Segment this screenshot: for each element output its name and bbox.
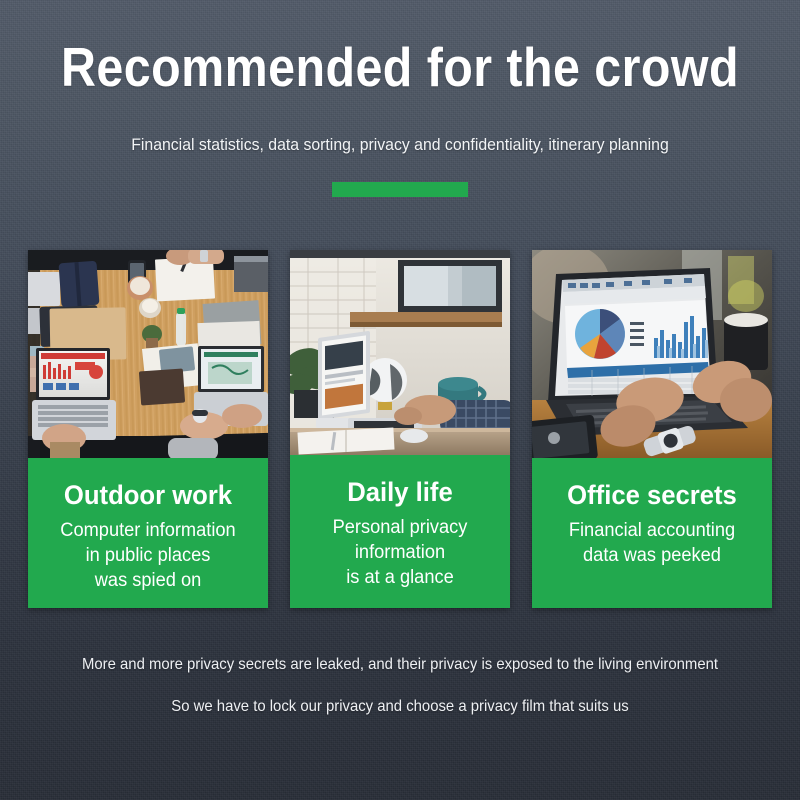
card-caption-daily-life: Daily life Personal privacy information … — [290, 455, 510, 608]
card-body-line-2: information — [294, 540, 505, 565]
card-body-line-2: in public places — [33, 543, 263, 568]
home-desk-illustration — [290, 250, 510, 455]
footer-line-1: More and more privacy secrets are leaked… — [28, 655, 772, 675]
card-body-line-2: data was peeked — [537, 543, 767, 568]
footer-line-2: So we have to lock our privacy and choos… — [28, 697, 772, 717]
card-caption-office-secrets: Office secrets Financial accounting data… — [532, 458, 772, 608]
card-body-line-3: is at a glance — [294, 565, 505, 590]
privacy-film-promo-poster: Recommended for the crowd Financial stat… — [0, 0, 800, 800]
card-body-line-1: Computer information — [33, 518, 263, 543]
card-image-daily-life — [290, 250, 510, 455]
page-subtitle: Financial statistics, data sorting, priv… — [28, 134, 772, 156]
card-body-line-1: Personal privacy — [294, 515, 505, 540]
poster-footer: More and more privacy secrets are leaked… — [0, 655, 800, 717]
card-image-outdoor-work — [28, 250, 268, 458]
feature-card-daily-life[interactable]: Daily life Personal privacy information … — [290, 250, 510, 608]
page-title: Recommended for the crowd — [48, 36, 752, 98]
accent-divider-bar — [332, 182, 468, 197]
meeting-table-illustration — [28, 250, 268, 458]
feature-card-list: Outdoor work Computer information in pub… — [28, 250, 772, 610]
card-heading: Office secrets — [538, 480, 766, 511]
card-body-line-1: Financial accounting — [537, 518, 767, 543]
card-image-office-secrets — [532, 250, 772, 458]
card-body-line-3: was spied on — [33, 568, 263, 593]
feature-card-office-secrets[interactable]: Office secrets Financial accounting data… — [532, 250, 772, 608]
card-caption-outdoor-work: Outdoor work Computer information in pub… — [28, 458, 268, 608]
spreadsheet-laptop-illustration — [532, 250, 772, 458]
feature-card-outdoor-work[interactable]: Outdoor work Computer information in pub… — [28, 250, 268, 608]
card-heading: Daily life — [296, 477, 505, 508]
card-heading: Outdoor work — [34, 480, 262, 511]
poster-header: Recommended for the crowd Financial stat… — [0, 0, 800, 197]
